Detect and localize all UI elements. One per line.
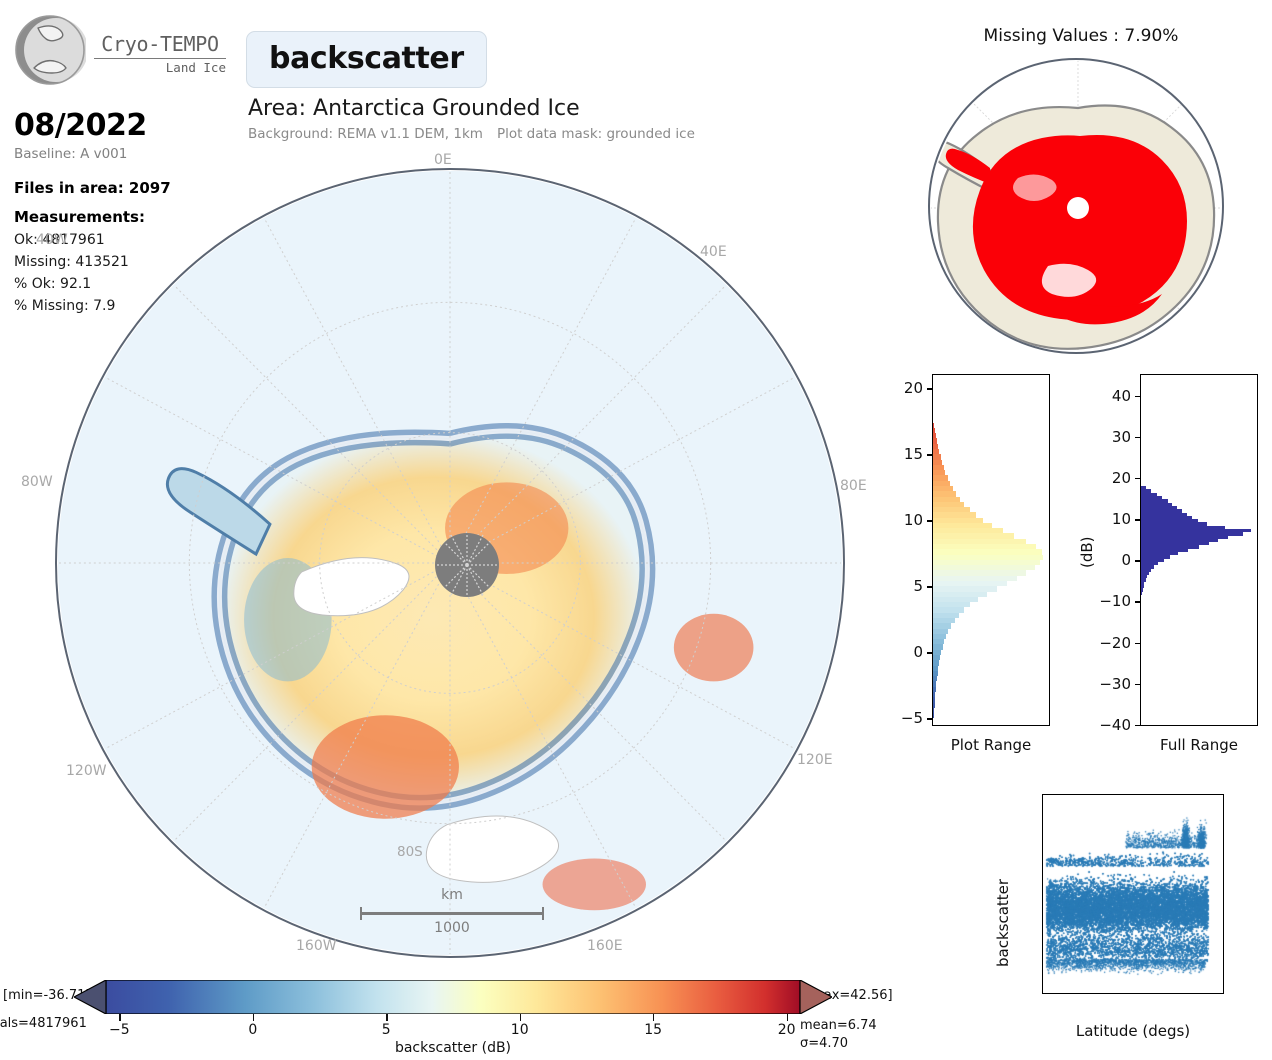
histogram-bar: [1141, 522, 1207, 525]
histogram-bar: [933, 607, 964, 612]
histogram-bar: [933, 713, 934, 718]
map-lon-label-120w: 120W: [66, 763, 107, 779]
histogram-bar: [933, 523, 992, 528]
colorbar-tick: [787, 1014, 788, 1021]
colorbar-ticks: −505101520: [106, 1014, 800, 1040]
histogram-bar: [1141, 516, 1192, 519]
scatter-x-axis-title: Latitude (degs): [1042, 1022, 1224, 1040]
histogram-y-tick-label: 0: [913, 643, 933, 661]
histogram-bar: [933, 512, 976, 517]
histogram-bar: [933, 502, 964, 507]
map-lon-label-40w: 40W: [36, 232, 68, 248]
map-lon-label-160w: 160W: [296, 938, 337, 954]
map-lon-label-120e: 120E: [797, 752, 833, 768]
histogram-bar: [933, 618, 955, 623]
histogram-y-tick-label: 20: [1112, 469, 1141, 487]
histogram-y-tick-label: 30: [1112, 428, 1141, 446]
scatter-point-cloud: [1043, 795, 1223, 993]
histogram-y-tick-label: −20: [1099, 634, 1141, 652]
background-note: Background: REMA v1.1 DEM, 1km: [248, 126, 483, 142]
histogram-bar: [933, 634, 946, 639]
histogram-bar: [933, 539, 1026, 544]
histogram-bar: [1141, 575, 1147, 578]
histogram-y-tick-label: 40: [1112, 387, 1141, 405]
plot-range-caption: Plot Range: [920, 736, 1062, 754]
histogram-y-tick-label: −10: [1099, 592, 1141, 610]
full-range-y-axis-title: (dB): [1078, 536, 1096, 568]
histogram-bar: [933, 681, 936, 686]
histogram-bar: [933, 444, 938, 449]
colorbar-tick-label: 15: [644, 1022, 662, 1038]
histogram-bar: [933, 660, 939, 665]
histogram-y-tick-label: −40: [1099, 716, 1141, 734]
histogram-bar: [933, 475, 948, 480]
plot-range-histogram-axes: −505101520: [932, 374, 1050, 726]
histogram-bar: [933, 565, 1035, 570]
histogram-bar: [933, 570, 1026, 575]
histogram-bar: [1141, 545, 1199, 548]
histogram-bar: [1141, 542, 1209, 545]
scalebar-units: km: [352, 888, 552, 903]
colorbar-gradient: [106, 980, 800, 1014]
full-range-histogram-axes: −40−30−20−10010203040: [1140, 374, 1258, 726]
histogram-bar: [933, 549, 1042, 554]
scatter-x-tick: [1217, 993, 1218, 994]
colorbar-tick-label: −5: [109, 1022, 130, 1038]
colorbar-tick-label: 5: [382, 1022, 391, 1038]
histogram-bar: [933, 629, 948, 634]
histogram-bar: [933, 465, 944, 470]
histogram-bar: [1141, 578, 1146, 581]
scatter-axes: −40−2002040−80−70−60: [1042, 794, 1224, 994]
colorbar[interactable]: [min=-36.71] [max=42.56] vals=4817961 me…: [0, 978, 900, 1060]
scalebar-line: [352, 906, 552, 920]
plot-range-histogram-panel[interactable]: −505101520 Plot Range: [890, 368, 1065, 768]
histogram-bar: [933, 507, 970, 512]
histogram-bar: [933, 576, 1017, 581]
histogram-bar: [1141, 503, 1172, 506]
logo-divider: [94, 58, 226, 59]
histogram-bar: [933, 555, 1043, 560]
colorbar-sigma-label: σ=4.70: [800, 1036, 848, 1051]
histogram-bar: [1141, 513, 1187, 516]
histogram-bar: [1141, 585, 1144, 588]
scatter-y-tick-label: −40: [1042, 980, 1043, 994]
map-lon-label-160e: 160E: [587, 938, 623, 954]
histogram-bar: [1141, 588, 1143, 591]
histogram-bar: [1141, 536, 1228, 539]
pole-hole: [435, 533, 499, 597]
scalebar-length: 1000: [352, 921, 552, 936]
histogram-bar: [933, 708, 934, 713]
histogram-bar: [933, 438, 937, 443]
histogram-bar: [1141, 559, 1164, 562]
app-logo: Cryo-TEMPO Land Ice: [14, 12, 229, 90]
main-map[interactable]: 80S km 1000 0E 40E 80E 120E 160E 160W 12…: [55, 168, 845, 958]
colorbar-tick: [253, 1014, 254, 1021]
colorbar-max-arrow: [799, 980, 832, 1014]
colorbar-tick: [386, 1014, 387, 1021]
histogram-bar: [933, 428, 935, 433]
colorbar-min-arrow: [74, 980, 107, 1014]
histogram-bar: [933, 692, 935, 697]
colorbar-tick: [520, 1014, 521, 1021]
colorbar-tick: [653, 1014, 654, 1021]
map-scalebar: km 1000: [352, 888, 552, 937]
histogram-bar: [1141, 489, 1151, 492]
histogram-bar: [1141, 572, 1149, 575]
missing-values-map[interactable]: [920, 58, 1240, 354]
backscatter-latitude-scatter-panel[interactable]: −40−2002040−80−70−60 Latitude (degs) bac…: [890, 782, 1272, 1060]
scatter-y-tick-label: 20: [1042, 844, 1043, 860]
histogram-bar: [1141, 509, 1182, 512]
histogram-bar: [933, 454, 941, 459]
histogram-bar: [933, 650, 941, 655]
map-lon-label-80w: 80W: [21, 474, 53, 490]
histogram-bar: [1141, 539, 1218, 542]
map-lon-label-0e: 0E: [434, 152, 452, 168]
histogram-bar: [933, 687, 936, 692]
histogram-bar: [1141, 486, 1146, 489]
histogram-bar: [933, 449, 939, 454]
map-lon-label-80e: 80E: [840, 478, 867, 494]
histogram-y-tick-label: 10: [904, 511, 933, 529]
histogram-bar: [1141, 526, 1225, 529]
scatter-y-axis-title: backscatter: [994, 879, 1012, 967]
histogram-bar: [933, 560, 1040, 565]
histogram-bar: [933, 423, 934, 428]
missing-map-disc: [928, 58, 1224, 354]
histogram-bar: [933, 544, 1036, 549]
scatter-y-tick-label: 40: [1042, 798, 1043, 814]
colorbar-tick-label: 20: [778, 1022, 796, 1038]
histogram-bar: [1141, 532, 1243, 535]
logo-subtitle: Land Ice: [92, 62, 228, 75]
histogram-bar: [933, 433, 936, 438]
missing-values-title: Missing Values : 7.90%: [890, 26, 1272, 46]
map-lat-label-80s: 80S: [397, 844, 423, 860]
histogram-bar: [1141, 562, 1158, 565]
plot-notes: Background: REMA v1.1 DEM, 1kmPlot data …: [248, 126, 695, 142]
colorbar-tick-label: 0: [248, 1022, 257, 1038]
histogram-bar: [1141, 506, 1177, 509]
histogram-y-tick-label: 20: [904, 379, 933, 397]
globe-icon: [14, 14, 86, 86]
histogram-bar: [933, 597, 978, 602]
histogram-y-tick-label: −5: [901, 709, 933, 727]
histogram-y-tick-label: −30: [1099, 675, 1141, 693]
histogram-bar: [1141, 529, 1251, 532]
histogram-bar: [933, 639, 944, 644]
histogram-bar: [1141, 565, 1154, 568]
baseline-label: Baseline: A v001: [14, 146, 239, 162]
histogram-bar: [933, 602, 970, 607]
histogram-bar: [933, 703, 935, 708]
page-title: Area: Antarctica Grounded Ice: [248, 96, 580, 121]
variable-badge[interactable]: backscatter: [246, 31, 487, 88]
histogram-bar: [933, 592, 987, 597]
mask-note: Plot data mask: grounded ice: [497, 126, 695, 142]
missing-map-graticule: [930, 60, 1224, 354]
histogram-bar: [933, 666, 938, 671]
histogram-bar: [1141, 569, 1151, 572]
histogram-bar: [1141, 552, 1178, 555]
histogram-y-tick-label: 15: [904, 445, 933, 463]
histogram-bar: [933, 644, 943, 649]
histogram-bar: [1141, 549, 1188, 552]
map-lon-label-40e: 40E: [700, 244, 727, 260]
histogram-bar: [1141, 592, 1142, 595]
histogram-bar: [933, 497, 960, 502]
histogram-bar: [933, 491, 956, 496]
histogram-bar: [933, 460, 942, 465]
map-disc: 80S km 1000: [55, 168, 845, 958]
scatter-y-tick-label: 0: [1042, 889, 1043, 905]
histogram-bar: [933, 623, 951, 628]
histogram-bar: [933, 655, 940, 660]
histogram-bar: [933, 581, 1007, 586]
histogram-bar: [933, 613, 959, 618]
histogram-y-tick-label: 10: [1112, 510, 1141, 528]
histogram-bar: [1141, 555, 1170, 558]
scatter-y-tick-label: −20: [1042, 935, 1043, 951]
colorbar-tick-label: 10: [511, 1022, 529, 1038]
histogram-bar: [933, 676, 937, 681]
histogram-y-tick-label: 5: [913, 577, 933, 595]
histogram-bar: [933, 586, 997, 591]
colorbar-axis-label: backscatter (dB): [106, 1040, 800, 1056]
pole-hole-graticule: [435, 533, 499, 597]
histogram-bar: [933, 671, 938, 676]
scatter-x-tick: [1156, 993, 1157, 994]
colorbar-nvals-label: vals=4817961: [0, 1016, 87, 1031]
scatter-x-tick: [1095, 993, 1096, 994]
histogram-bar: [933, 533, 1014, 538]
histogram-bar: [933, 470, 945, 475]
colorbar-mean-label: mean=6.74: [800, 1018, 877, 1033]
histogram-bar: [933, 518, 983, 523]
full-range-histogram-panel[interactable]: −40−30−20−10010203040 (dB) Full Range: [1060, 368, 1272, 768]
histogram-bar: [1141, 519, 1198, 522]
histogram-bar: [933, 481, 950, 486]
date-label: 08/2022: [14, 110, 239, 142]
histogram-y-tick-label: 0: [1121, 551, 1141, 569]
dashboard-root: Cryo-TEMPO Land Ice 08/2022 Baseline: A …: [0, 0, 1272, 1060]
histogram-bar: [1141, 582, 1144, 585]
logo-title: Cryo-TEMPO: [92, 34, 228, 54]
histogram-bar: [933, 528, 1003, 533]
colorbar-tick: [119, 1014, 120, 1021]
full-range-caption: Full Range: [1128, 736, 1270, 754]
histogram-bar: [933, 486, 953, 491]
histogram-bar: [1141, 499, 1168, 502]
histogram-bar: [933, 697, 935, 702]
histogram-bar: [1141, 493, 1157, 496]
histogram-bar: [1141, 496, 1162, 499]
